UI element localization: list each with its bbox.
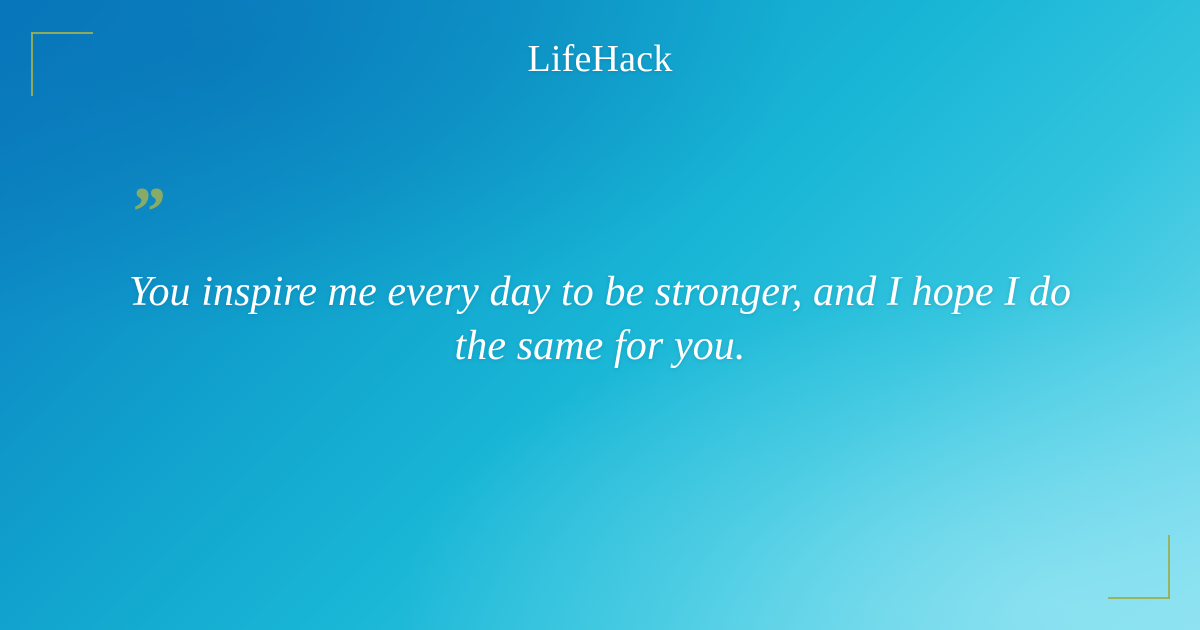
quote-block: ” You inspire me every day to be stronge… — [105, 190, 1095, 374]
quotation-mark-icon: ” — [129, 190, 1095, 246]
quote-card: LifeHack ” You inspire me every day to b… — [0, 0, 1200, 630]
corner-bracket-bottom-right-horizontal — [1108, 597, 1170, 599]
corner-bracket-top-left-horizontal — [31, 32, 93, 34]
corner-bracket-bottom-right-vertical — [1168, 535, 1170, 599]
brand-logo: LifeHack — [0, 39, 1200, 81]
quote-text: You inspire me every day to be stronger,… — [105, 266, 1095, 374]
corner-bracket-bottom-right-icon — [1108, 535, 1170, 599]
